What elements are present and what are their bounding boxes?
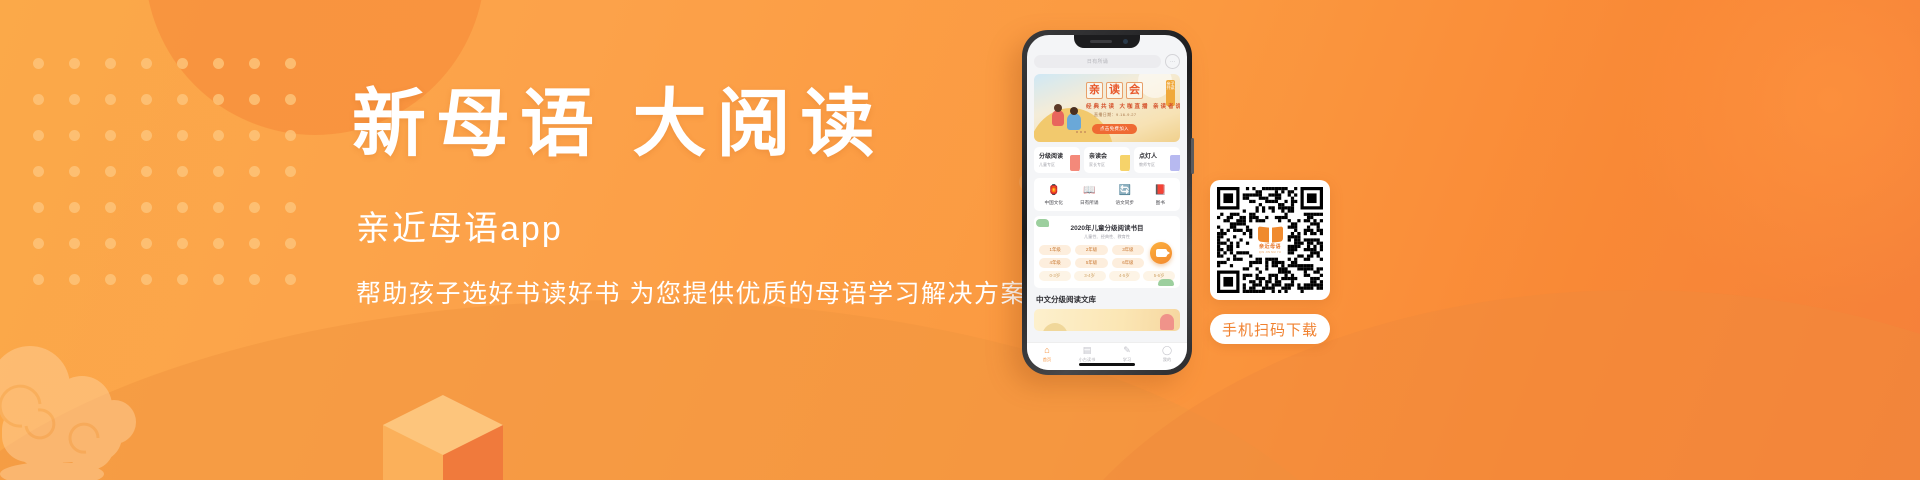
cube-decoration [383, 395, 503, 480]
promo-title-char: 亲 [1086, 82, 1103, 99]
carousel-dots[interactable] [1076, 131, 1086, 133]
promo-card[interactable]: 亲 读 会 亲子共读 经典共读 大咖直播 亲读者说 直播日期：9.16-9.27… [1034, 74, 1180, 142]
front-camera-icon [1123, 39, 1128, 44]
qr-code[interactable]: 亲近母语 QIN JIN MU YU [1210, 180, 1330, 300]
home-indicator [1079, 363, 1135, 366]
grade-button[interactable]: 1年级 [1039, 245, 1071, 255]
earpiece-speaker [1090, 40, 1112, 43]
qr-block: 亲近母语 QIN JIN MU YU 手机扫码下载 [1210, 180, 1330, 344]
message-icon[interactable]: ··· [1165, 54, 1180, 69]
book-icon [1258, 227, 1283, 242]
notes-icon: ▤ [1083, 346, 1092, 355]
quick-link-books[interactable]: 📕 图书 [1143, 184, 1179, 206]
tab-label: 首页 [1043, 357, 1051, 363]
age-button[interactable]: 3-4岁 [1074, 271, 1106, 281]
phone-mockup: 日有所诵 ··· 亲 读 会 亲子共读 经典共读 大咖直播 亲读者说 直播 [1022, 30, 1192, 375]
tab-label: 我的 [1163, 357, 1171, 363]
child-illustration [1067, 113, 1081, 130]
library-figure-illustration [1160, 314, 1174, 330]
promo-title-char: 读 [1106, 82, 1123, 99]
daily-recite-icon: 📖 [1083, 184, 1096, 197]
tagline-text: 帮助孩子选好书读好书 为您提供优质的母语学习解决方案 [356, 278, 1012, 311]
grade-button[interactable]: 4年级 [1039, 258, 1071, 268]
library-decoration [1042, 323, 1068, 331]
download-button[interactable]: 手机扫码下载 [1210, 314, 1330, 344]
tab-study[interactable]: ✎ 学习 [1107, 346, 1147, 363]
promo-title: 亲 读 会 [1086, 82, 1143, 99]
quick-link-sync-course[interactable]: 🔄 语文同步 [1107, 184, 1143, 206]
quick-link-label: 中国文化 [1045, 200, 1063, 206]
promo-title-char: 会 [1126, 82, 1143, 99]
quick-link-label: 语文同步 [1116, 200, 1134, 206]
brand-name: 亲近母语 [1259, 243, 1281, 250]
phone-notch [1074, 35, 1140, 48]
card-decoration-icon [1120, 155, 1130, 171]
phone-screen: 日有所诵 ··· 亲 读 会 亲子共读 经典共读 大咖直播 亲读者说 直播 [1027, 35, 1187, 370]
library-banner-card[interactable] [1034, 309, 1180, 331]
app-screen-body: 日有所诵 ··· 亲 读 会 亲子共读 经典共读 大咖直播 亲读者说 直播 [1027, 35, 1187, 370]
grade-button[interactable]: 3年级 [1112, 245, 1144, 255]
quick-link-chinese-culture[interactable]: 🏮 中国文化 [1036, 184, 1072, 206]
quick-links-row: 🏮 中国文化 📖 日有所诵 🔄 语文同步 📕 图书 [1034, 178, 1180, 211]
home-icon: ⌂ [1044, 346, 1049, 355]
video-play-icon[interactable] [1150, 242, 1172, 264]
category-card-reading-club[interactable]: 亲读会 家长专区 [1084, 147, 1130, 173]
quick-link-label: 图书 [1156, 200, 1165, 206]
age-button-row: 0-3岁 3-4岁 4-5岁 5-6岁 [1039, 271, 1175, 281]
sync-course-icon: 🔄 [1118, 184, 1131, 197]
category-card-graded-reading[interactable]: 分级阅读 儿童专区 [1034, 147, 1080, 173]
promo-subtitle: 经典共读 大咖直播 亲读者说 [1086, 102, 1180, 110]
study-icon: ✎ [1123, 346, 1131, 355]
copy-block: 新母语 大阅读 亲近母语app 帮助孩子选好书读好书 为您提供优质的母语学习解决… [352, 84, 1012, 310]
tab-home[interactable]: ⌂ 首页 [1027, 346, 1067, 363]
tab-notes[interactable]: ▤ 小古读书 [1067, 346, 1107, 363]
category-card-row: 分级阅读 儿童专区 亲读会 家长专区 点灯人 教师专区 [1034, 147, 1180, 173]
grade-button-grid: 1年级 2年级 3年级 4年级 5年级 6年级 [1039, 245, 1144, 268]
quick-link-label: 日有所诵 [1080, 200, 1098, 206]
leaf-decoration-icon [1158, 279, 1174, 286]
page-title: 新母语 大阅读 [352, 84, 1012, 167]
card-decoration-icon [1070, 155, 1080, 171]
grade-button[interactable]: 5年级 [1075, 258, 1107, 268]
booklist-subtitle: 儿童性、经典性、教育性 [1039, 234, 1175, 240]
promo-date: 直播日期：9.16-9.27 [1094, 112, 1137, 118]
booklist-card: 2020年儿童分级阅读书目 儿童性、经典性、教育性 1年级 2年级 3年级 4年… [1034, 216, 1180, 288]
tab-profile[interactable]: ◯ 我的 [1147, 346, 1187, 363]
profile-icon: ◯ [1162, 346, 1172, 355]
child-illustration [1052, 110, 1064, 126]
phone-side-button[interactable] [1191, 138, 1194, 174]
age-button[interactable]: 0-3岁 [1039, 271, 1071, 281]
grade-button[interactable]: 6年级 [1112, 258, 1144, 268]
grade-button[interactable]: 2年级 [1075, 245, 1107, 255]
leaf-decoration-icon [1036, 219, 1049, 227]
search-input[interactable]: 日有所诵 [1034, 55, 1161, 68]
age-button[interactable]: 4-5岁 [1109, 271, 1141, 281]
corner-glow-decoration [1620, 0, 1920, 310]
chinese-culture-icon: 🏮 [1047, 184, 1060, 197]
app-name-subtitle: 亲近母语app [356, 209, 1012, 250]
brand-name-pinyin: QIN JIN MU YU [1259, 251, 1281, 254]
books-icon: 📕 [1154, 184, 1167, 197]
auspicious-cloud-icon [0, 334, 202, 480]
dot-grid-decoration [33, 58, 321, 310]
brand-logo: 亲近母语 QIN JIN MU YU [1253, 223, 1287, 257]
booklist-title: 2020年儿童分级阅读书目 [1039, 222, 1175, 232]
search-row: 日有所诵 ··· [1034, 54, 1180, 69]
card-decoration-icon [1170, 155, 1180, 171]
quick-link-daily-recite[interactable]: 📖 日有所诵 [1072, 184, 1108, 206]
category-card-lamplighter[interactable]: 点灯人 教师专区 [1134, 147, 1180, 173]
promo-banner: 新母语 大阅读 亲近母语app 帮助孩子选好书读好书 为您提供优质的母语学习解决… [0, 0, 1920, 480]
promo-join-button[interactable]: 点击免费加入 [1092, 124, 1137, 134]
library-section-title: 中文分级阅读文库 [1034, 294, 1180, 305]
